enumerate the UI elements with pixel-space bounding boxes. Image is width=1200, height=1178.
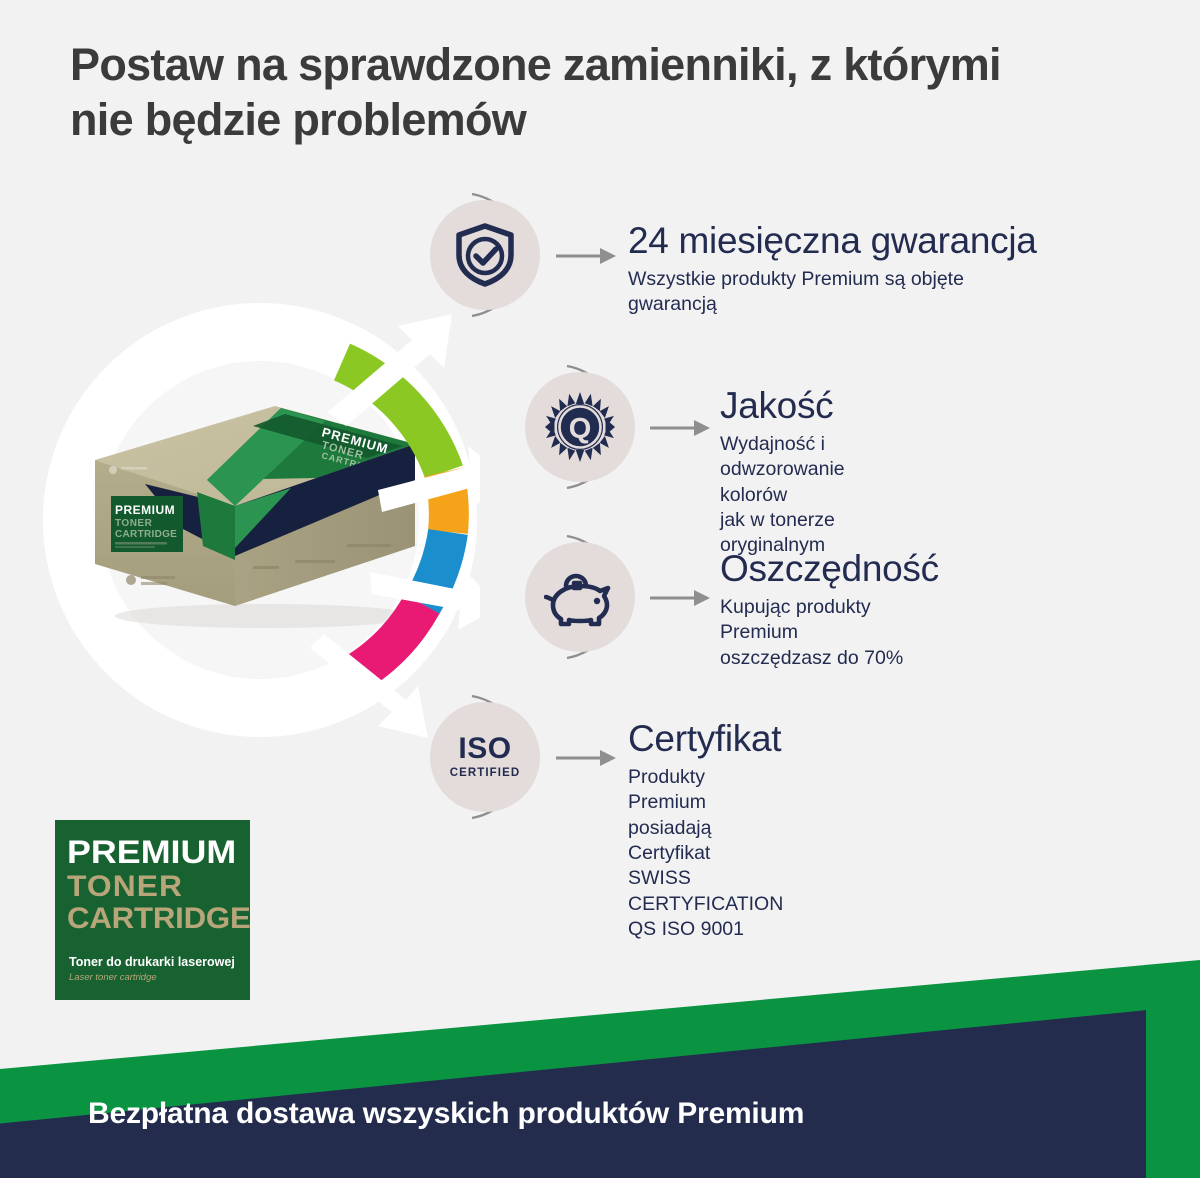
feature-desc-certificate: Produkty Premium posiadają Certyfikat SW…	[628, 765, 783, 942]
feature-icon-wrap-certificate: ISO CERTIFIED	[410, 682, 560, 832]
magenta-segment	[358, 604, 422, 672]
connector-arrow-warranty	[556, 243, 618, 269]
iso-main-label: ISO	[450, 734, 521, 764]
connector-arrow-certificate	[556, 745, 618, 771]
logo-tagline-en: Laser toner cartridge	[69, 972, 157, 983]
feature-icon-wrap-quality: Q	[505, 352, 655, 502]
feature-desc-savings: Kupując produkty Premium oszczędzasz do …	[720, 595, 939, 671]
logo-line-premium: PREMIUM	[67, 834, 236, 871]
page-title: Postaw na sprawdzone zamienniki, z który…	[70, 38, 1130, 148]
footer-caption: Bezpłatna dostawa wszyskich produktów Pr…	[88, 1097, 804, 1131]
logo-line-cartridge: CARTRIDGE	[67, 902, 250, 936]
feature-desc-warranty: Wszystkie produkty Premium są objęte gwa…	[628, 267, 1037, 318]
feature-title-savings: Oszczędność	[720, 550, 939, 589]
quality-badge-icon: Q	[525, 372, 635, 482]
color-segment-arc	[40, 300, 480, 740]
feature-desc-quality: Wydajność i odwzorowanie kolorów jak w t…	[720, 432, 845, 559]
feature-icon-wrap-warranty	[410, 180, 560, 330]
logo-tagline-pl: Toner do drukarki laserowej	[69, 955, 235, 969]
feature-title-certificate: Certyfikat	[628, 720, 783, 759]
feature-title-quality: Jakość	[720, 387, 845, 426]
connector-arrow-savings	[650, 585, 712, 611]
piggy-bank-icon	[525, 542, 635, 652]
iso-sub-label: CERTIFIED	[450, 768, 521, 780]
connector-arrow-quality	[650, 415, 712, 441]
iso-certified-icon: ISO CERTIFIED	[430, 702, 540, 812]
brand-logo-card: PREMIUM TONER CARTRIDGE Toner do drukark…	[55, 820, 250, 1000]
shield-check-icon	[430, 200, 540, 310]
feature-title-warranty: 24 miesięczna gwarancja	[628, 222, 1037, 261]
svg-text:Q: Q	[569, 413, 592, 445]
feature-icon-wrap-savings	[505, 522, 655, 672]
logo-line-toner: TONER	[67, 870, 183, 904]
